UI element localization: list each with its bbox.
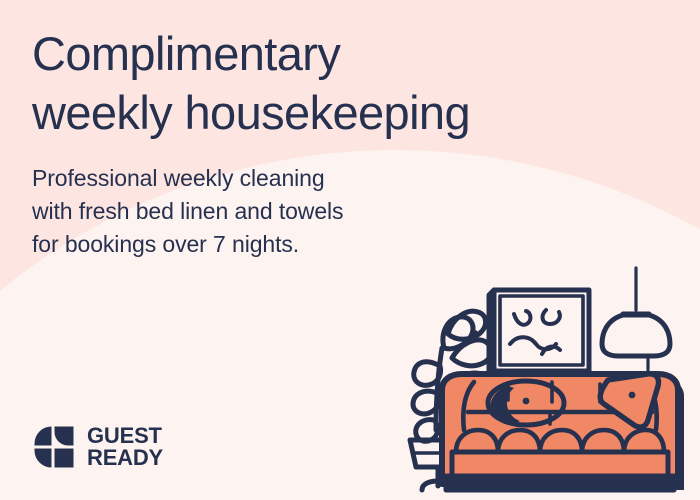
guestready-quadrant-mark-icon (32, 424, 76, 470)
page-title: Complimentary weekly housekeeping (32, 24, 632, 142)
framed-art-icon (489, 290, 589, 375)
promo-banner: Complimentary weekly housekeeping Profes… (0, 0, 700, 500)
pendant-lamp-icon (602, 268, 670, 374)
living-room-illustration (390, 262, 700, 500)
brand-logo: GUEST READY (32, 424, 163, 470)
banner-description: Professional weekly cleaning with fresh … (32, 162, 452, 261)
banner-content: Complimentary weekly housekeeping Profes… (0, 0, 700, 500)
brand-logo-text: GUEST READY (87, 425, 163, 470)
